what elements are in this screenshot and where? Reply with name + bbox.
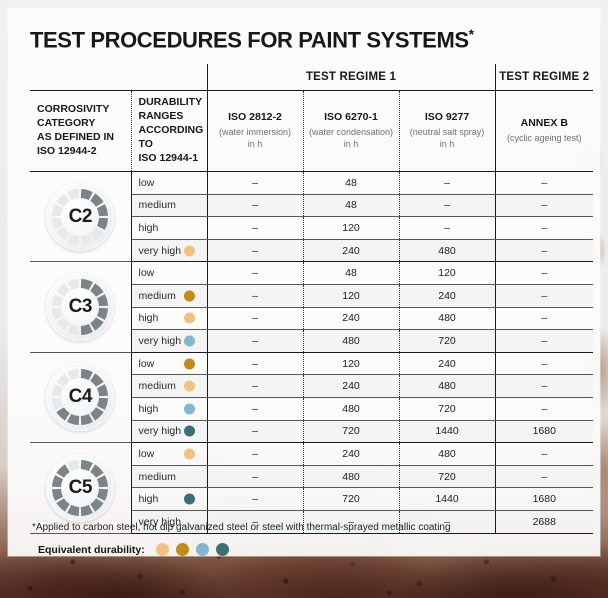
legend: Equivalent durability: bbox=[38, 543, 229, 556]
value-cell: – bbox=[207, 194, 303, 217]
value-cell: 240 bbox=[303, 375, 399, 398]
page-title: TEST PROCEDURES FOR PAINT SYSTEMS* bbox=[30, 26, 474, 53]
value-cell: – bbox=[495, 330, 593, 353]
durability-cell: low bbox=[131, 262, 207, 285]
durability-dot bbox=[184, 494, 195, 505]
legend-dot bbox=[216, 543, 229, 556]
gauge-icon: C2 bbox=[46, 183, 114, 251]
durability-dot bbox=[184, 448, 195, 459]
info-card: TEST PROCEDURES FOR PAINT SYSTEMS* TEST … bbox=[8, 8, 600, 556]
value-cell: 720 bbox=[399, 330, 495, 353]
durability-dot bbox=[184, 245, 195, 256]
value-cell: 1680 bbox=[495, 488, 593, 511]
corrosivity-badge-c3: C3 bbox=[30, 262, 131, 352]
value-cell: 480 bbox=[303, 397, 399, 420]
corrosivity-badge-c4: C4 bbox=[30, 352, 131, 442]
value-cell: – bbox=[495, 172, 593, 195]
table-row: C5 low–240480– bbox=[30, 443, 593, 466]
value-cell: – bbox=[207, 352, 303, 375]
regime-header-row: TEST REGIME 1 TEST REGIME 2 bbox=[30, 64, 593, 91]
gauge-icon: C3 bbox=[46, 273, 114, 341]
value-cell: – bbox=[495, 397, 593, 420]
durability-cell: high bbox=[131, 217, 207, 240]
value-cell: 720 bbox=[399, 397, 495, 420]
table-row: C3 low–48120– bbox=[30, 262, 593, 285]
test-column-header-2: ISO 6270-1 (water condensation)in h bbox=[303, 91, 399, 172]
value-cell: – bbox=[495, 217, 593, 240]
value-cell: – bbox=[495, 284, 593, 307]
test-column-header-4: ANNEX B (cyclic ageing test) bbox=[495, 91, 593, 172]
value-cell: 120 bbox=[399, 262, 495, 285]
paint-systems-table: TEST REGIME 1 TEST REGIME 2 CORROSIVITYC… bbox=[30, 64, 593, 534]
value-cell: 120 bbox=[303, 217, 399, 240]
durability-dot bbox=[184, 313, 195, 324]
legend-dot bbox=[156, 543, 169, 556]
page-title-text: TEST PROCEDURES FOR PAINT SYSTEMS bbox=[30, 27, 469, 52]
durability-dot bbox=[184, 335, 195, 346]
value-cell: – bbox=[207, 397, 303, 420]
durability-ranges-header: DURABILITYRANGESACCORDING TOISO 12944-1 bbox=[131, 91, 207, 172]
value-cell: 480 bbox=[399, 443, 495, 466]
value-cell: 720 bbox=[303, 488, 399, 511]
value-cell: – bbox=[207, 330, 303, 353]
regime-1-header: TEST REGIME 1 bbox=[207, 64, 495, 91]
category-label: C2 bbox=[46, 206, 114, 228]
value-cell: – bbox=[207, 465, 303, 488]
value-cell: 120 bbox=[303, 284, 399, 307]
value-cell: 240 bbox=[303, 307, 399, 330]
value-cell: – bbox=[207, 284, 303, 307]
column-header-row: CORROSIVITYCATEGORYAS DEFINED INISO 1294… bbox=[30, 91, 593, 172]
value-cell: 1680 bbox=[495, 420, 593, 443]
durability-cell: medium bbox=[131, 465, 207, 488]
value-cell: – bbox=[207, 420, 303, 443]
value-cell: – bbox=[399, 172, 495, 195]
value-cell: – bbox=[399, 217, 495, 240]
value-cell: 240 bbox=[399, 284, 495, 307]
gauge-icon: C5 bbox=[46, 454, 114, 522]
category-label: C5 bbox=[46, 477, 114, 499]
value-cell: – bbox=[495, 239, 593, 262]
durability-cell: very high bbox=[131, 330, 207, 353]
durability-dot bbox=[184, 403, 195, 414]
value-cell: 240 bbox=[399, 352, 495, 375]
value-cell: 1440 bbox=[399, 420, 495, 443]
value-cell: – bbox=[495, 262, 593, 285]
value-cell: – bbox=[495, 307, 593, 330]
title-asterisk: * bbox=[469, 26, 474, 42]
value-cell: – bbox=[495, 194, 593, 217]
value-cell: 120 bbox=[303, 352, 399, 375]
page-background: TEST PROCEDURES FOR PAINT SYSTEMS* TEST … bbox=[0, 0, 608, 598]
value-cell: 480 bbox=[399, 239, 495, 262]
value-cell: 720 bbox=[399, 465, 495, 488]
table-row: C4 low–120240– bbox=[30, 352, 593, 375]
durability-dot bbox=[184, 358, 195, 369]
durability-cell: high bbox=[131, 488, 207, 511]
test-column-header-3: ISO 9277 (neutral salt spray)in h bbox=[399, 91, 495, 172]
value-cell: – bbox=[207, 262, 303, 285]
gauge-icon: C4 bbox=[46, 363, 114, 431]
durability-cell: high bbox=[131, 307, 207, 330]
value-cell: 480 bbox=[399, 375, 495, 398]
durability-dot bbox=[184, 426, 195, 437]
footnote: *Applied to carbon steel, hot dip galvan… bbox=[32, 522, 451, 533]
durability-cell: very high bbox=[131, 239, 207, 262]
legend-dot bbox=[176, 543, 189, 556]
value-cell: – bbox=[207, 307, 303, 330]
legend-label: Equivalent durability: bbox=[38, 544, 145, 556]
value-cell: – bbox=[207, 172, 303, 195]
value-cell: – bbox=[495, 352, 593, 375]
durability-cell: medium bbox=[131, 284, 207, 307]
durability-cell: low bbox=[131, 172, 207, 195]
corrosivity-category-header: CORROSIVITYCATEGORYAS DEFINED INISO 1294… bbox=[30, 91, 131, 172]
category-label: C3 bbox=[46, 296, 114, 318]
corrosivity-badge-c2: C2 bbox=[30, 172, 131, 262]
value-cell: 480 bbox=[303, 330, 399, 353]
value-cell: – bbox=[399, 194, 495, 217]
value-cell: – bbox=[495, 443, 593, 466]
regime-2-header: TEST REGIME 2 bbox=[495, 64, 593, 91]
value-cell: – bbox=[207, 239, 303, 262]
value-cell: – bbox=[207, 488, 303, 511]
value-cell: 2688 bbox=[495, 510, 593, 533]
durability-cell: medium bbox=[131, 375, 207, 398]
value-cell: 240 bbox=[303, 443, 399, 466]
durability-cell: low bbox=[131, 352, 207, 375]
value-cell: 48 bbox=[303, 194, 399, 217]
value-cell: 480 bbox=[303, 465, 399, 488]
value-cell: 480 bbox=[399, 307, 495, 330]
test-column-header-1: ISO 2812-2 (water immersion)in h bbox=[207, 91, 303, 172]
durability-cell: low bbox=[131, 443, 207, 466]
value-cell: 1440 bbox=[399, 488, 495, 511]
durability-dot bbox=[184, 381, 195, 392]
category-label: C4 bbox=[46, 386, 114, 408]
legend-dot bbox=[196, 543, 209, 556]
value-cell: – bbox=[207, 375, 303, 398]
corrosivity-badge-c5: C5 bbox=[30, 443, 131, 533]
value-cell: – bbox=[207, 443, 303, 466]
durability-cell: high bbox=[131, 397, 207, 420]
table-row: C2 low–48–– bbox=[30, 172, 593, 195]
regime-spacer-durability bbox=[131, 64, 207, 91]
value-cell: – bbox=[207, 217, 303, 240]
value-cell: – bbox=[495, 375, 593, 398]
value-cell: 720 bbox=[303, 420, 399, 443]
value-cell: 240 bbox=[303, 239, 399, 262]
durability-cell: very high bbox=[131, 420, 207, 443]
value-cell: – bbox=[495, 465, 593, 488]
value-cell: 48 bbox=[303, 262, 399, 285]
durability-dot bbox=[184, 290, 195, 301]
value-cell: 48 bbox=[303, 172, 399, 195]
durability-cell: medium bbox=[131, 194, 207, 217]
regime-spacer-category bbox=[30, 64, 131, 91]
